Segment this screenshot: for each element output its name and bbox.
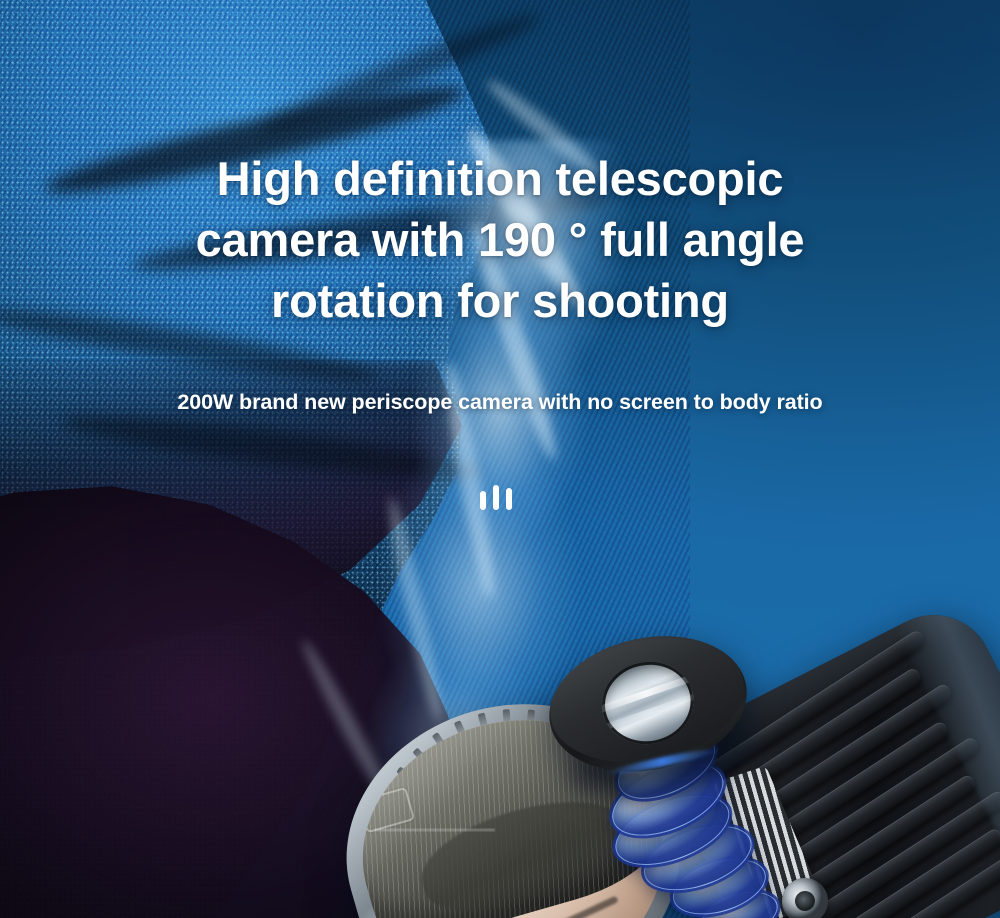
- signal-bar-3: [506, 488, 512, 510]
- promo-banner: High definition telescopic camera with 1…: [0, 0, 1000, 918]
- product-image-smartwatch: [330, 610, 1000, 918]
- signal-bar-2: [493, 485, 499, 510]
- signal-bar-1: [480, 491, 486, 510]
- subheadline: 200W brand new periscope camera with no …: [0, 390, 1000, 415]
- headline: High definition telescopic camera with 1…: [0, 148, 1000, 331]
- signal-bars-icon: [480, 482, 520, 510]
